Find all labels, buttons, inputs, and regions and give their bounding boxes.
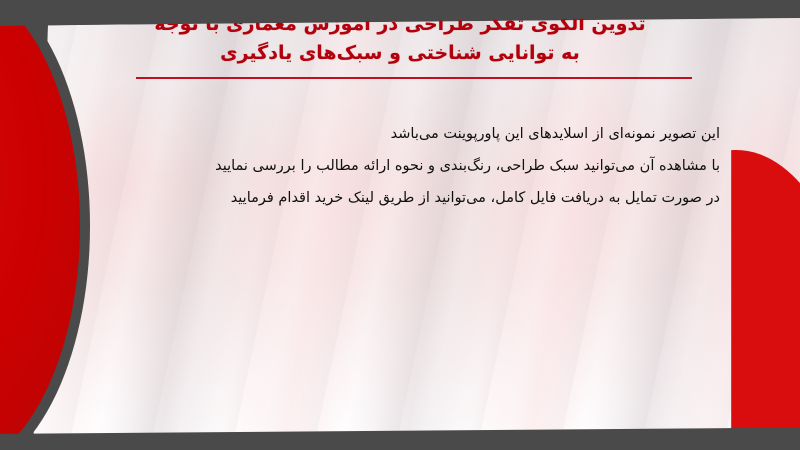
title-divider-rule — [136, 77, 692, 79]
presentation-slide: تدوین الگوی تفکر طراحی در آموزش معماری ب… — [0, 0, 800, 450]
title-line-2: به توانایی شناختی و سبک‌های یادگیری — [90, 39, 710, 68]
body-line-2: با مشاهده آن می‌توانید سبک طراحی، رنگ‌بن… — [120, 150, 720, 182]
body-line-3: در صورت تمایل به دریافت فایل کامل، می‌تو… — [120, 182, 720, 214]
slide-title: تدوین الگوی تفکر طراحی در آموزش معماری ب… — [90, 10, 710, 68]
body-line-1: این تصویر نمونه‌ای از اسلایدهای این پاور… — [120, 118, 720, 150]
title-line-1: تدوین الگوی تفکر طراحی در آموزش معماری ب… — [90, 10, 710, 39]
slide-body-text: این تصویر نمونه‌ای از اسلایدهای این پاور… — [120, 118, 720, 214]
